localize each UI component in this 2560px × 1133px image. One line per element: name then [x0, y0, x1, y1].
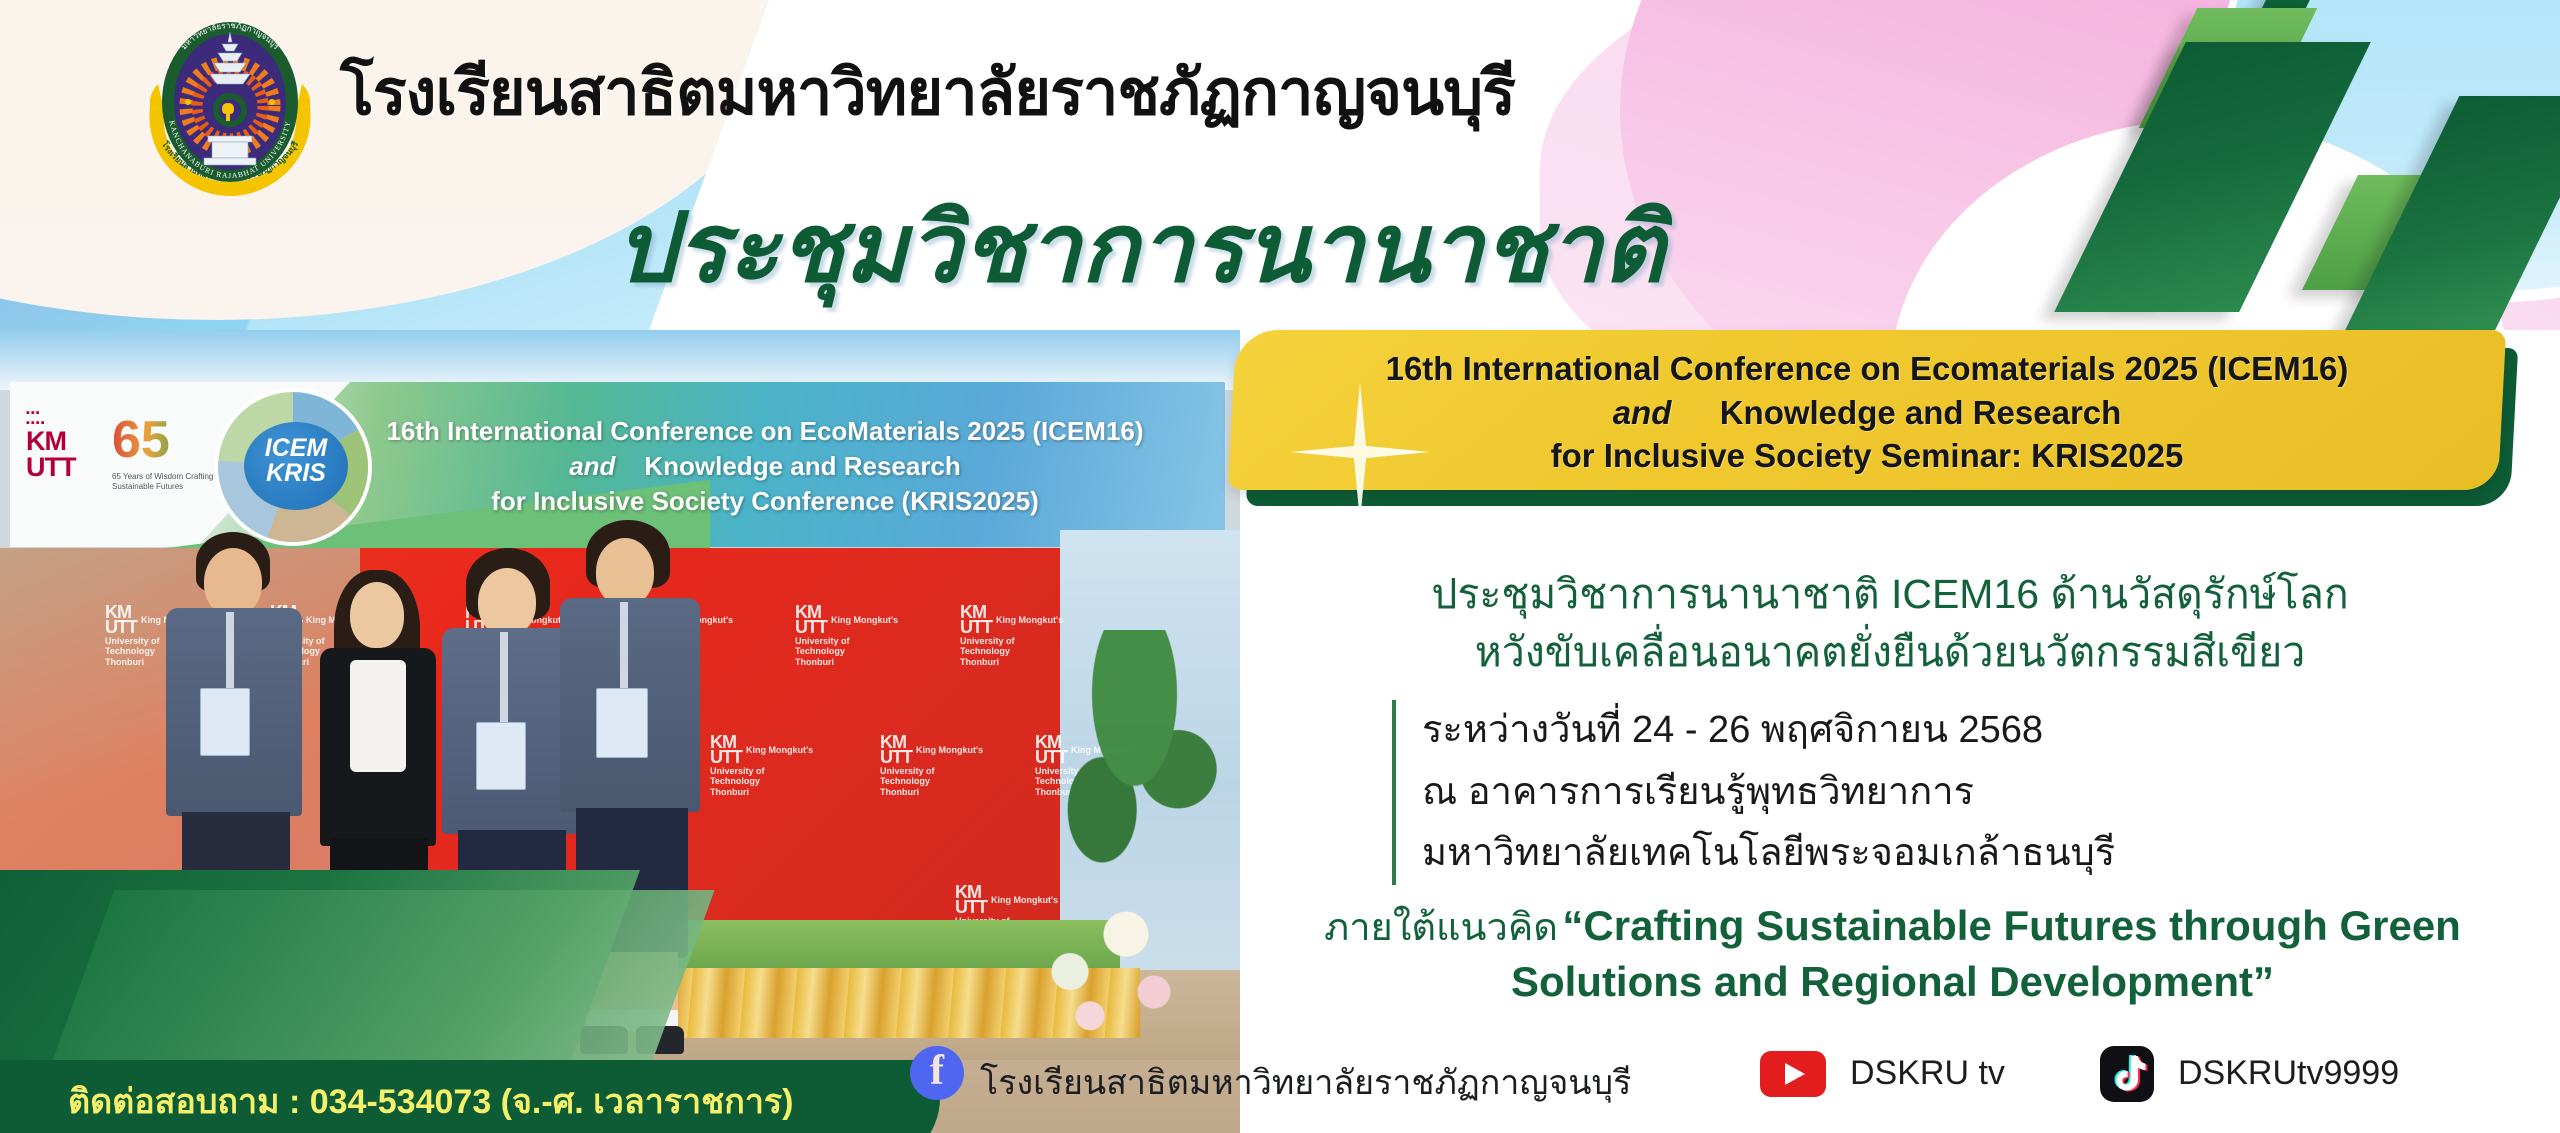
icem-label: ICEM — [265, 434, 328, 462]
backdrop-line-1: 16th International Conference on EcoMate… — [350, 414, 1180, 449]
poster-root: โรงเรียนสาธิตมหาวิทยาลัยราชภัฏกาญจนบุรี … — [0, 0, 2560, 1133]
backdrop-line-3: for Inclusive Society Conference (KRIS20… — [350, 484, 1180, 519]
subtitle-line-2: หวังขับเคลื่อนอนาคตยั่งยืนด้วยนวัตกรรมสี… — [1240, 623, 2540, 681]
photo-ceiling — [0, 330, 1240, 390]
theme-block: ภายใต้แนวคิด “Crafting Sustainable Futur… — [1240, 898, 2545, 1010]
subtitle-block: ประชุมวิชาการนานาชาติ ICEM16 ด้านวัสดุรั… — [1240, 565, 2540, 681]
icem-kris-inner: ICEM KRIS — [244, 422, 348, 510]
youtube-channel-name[interactable]: DSKRU tv — [1850, 1054, 2005, 1093]
conference-title-text: 16th International Conference on Ecomate… — [1232, 347, 2502, 478]
page-title-conference: ประชุมวิชาการนานาชาติ — [615, 172, 1665, 324]
conf-and: and — [1613, 394, 1672, 431]
university-seal-logo: โรงเรียนสาธิตมหาวิทยาลัยราชภัฏกาญจนบุรี … — [140, 10, 320, 200]
photo-green-overlay-2 — [5, 890, 714, 1060]
kmutt-watermark: KMUTTKing Mongkut'sUniversity ofTechnolo… — [710, 735, 813, 797]
event-venue: ณ อาคารการเรียนรู้พุทธวิทยาการ — [1422, 762, 2115, 824]
photo-backdrop-title: 16th International Conference on EcoMate… — [350, 414, 1180, 518]
youtube-icon[interactable] — [1760, 1051, 1826, 1097]
theme-quote-line-2: Solutions and Regional Development” — [1240, 954, 2545, 1010]
theme-quote-line-1: “Crafting Sustainable Futures through Gr… — [1562, 902, 2460, 949]
youtube-play-triangle — [1785, 1063, 1805, 1085]
theme-prefix: ภายใต้แนวคิด — [1324, 907, 1558, 949]
conf-line-1: 16th International Conference on Ecomate… — [1232, 347, 2502, 391]
backdrop-and: and — [569, 451, 615, 481]
kmutt-watermark: KMUTTKing Mongkut'sUniversity ofTechnolo… — [880, 735, 983, 797]
event-organization: มหาวิทยาลัยเทคโนโลยีพระจอมเกล้าธนบุรี — [1422, 823, 2115, 885]
photo-plant-right — [1030, 630, 1220, 920]
page-title-school-name: โรงเรียนสาธิตมหาวิทยาลัยราชภัฏกาญจนบุรี — [340, 42, 1515, 142]
kris-label: KRIS — [266, 459, 326, 487]
event-details-block: ระหว่างวันที่ 24 - 26 พฤศจิกายน 2568 ณ อ… — [1392, 700, 2115, 885]
event-date: ระหว่างวันที่ 24 - 26 พฤศจิกายน 2568 — [1422, 700, 2115, 762]
facebook-page-name[interactable]: โรงเรียนสาธิตมหาวิทยาลัยราชภัฏกาญจนบุรี — [980, 1055, 1631, 1109]
kmutt-watermark: KMUTTKing Mongkut'sUniversity ofTechnolo… — [795, 605, 898, 667]
photo-anniversary-sub: 65 Years of Wisdom Crafting Sustainable … — [112, 472, 222, 492]
facebook-icon[interactable]: f — [910, 1046, 964, 1100]
conf-line-3: for Inclusive Society Seminar: KRIS2025 — [1232, 434, 2502, 478]
photo-kmutt-logo: ▪▪▪▪▪▪▪KMUTT — [26, 408, 92, 518]
footer-contact-text: ติดต่อสอบถาม : 034-534073 (จ.-ศ. เวลาราช… — [68, 1074, 794, 1128]
backdrop-line-2: Knowledge and Research — [644, 451, 960, 481]
tiktok-icon[interactable] — [2100, 1046, 2154, 1102]
photo-anniversary-logo: 65 — [112, 410, 212, 520]
event-photo: ▪▪▪▪▪▪▪KMUTT 65 65 Years of Wisdom Craft… — [0, 330, 1240, 1060]
photo-flowers-right — [1010, 890, 1210, 1060]
conf-line-2: Knowledge and Research — [1720, 394, 2122, 431]
tiktok-account-name[interactable]: DSKRUtv9999 — [2178, 1054, 2399, 1093]
facebook-glyph: f — [930, 1048, 944, 1094]
tiktok-note-glyph — [2100, 1046, 2154, 1102]
conference-title-card: 16th International Conference on Ecomate… — [1232, 330, 2522, 500]
subtitle-line-1: ประชุมวิชาการนานาชาติ ICEM16 ด้านวัสดุรั… — [1240, 565, 2540, 623]
icem-kris-circle-logo: ICEM KRIS — [218, 392, 368, 542]
